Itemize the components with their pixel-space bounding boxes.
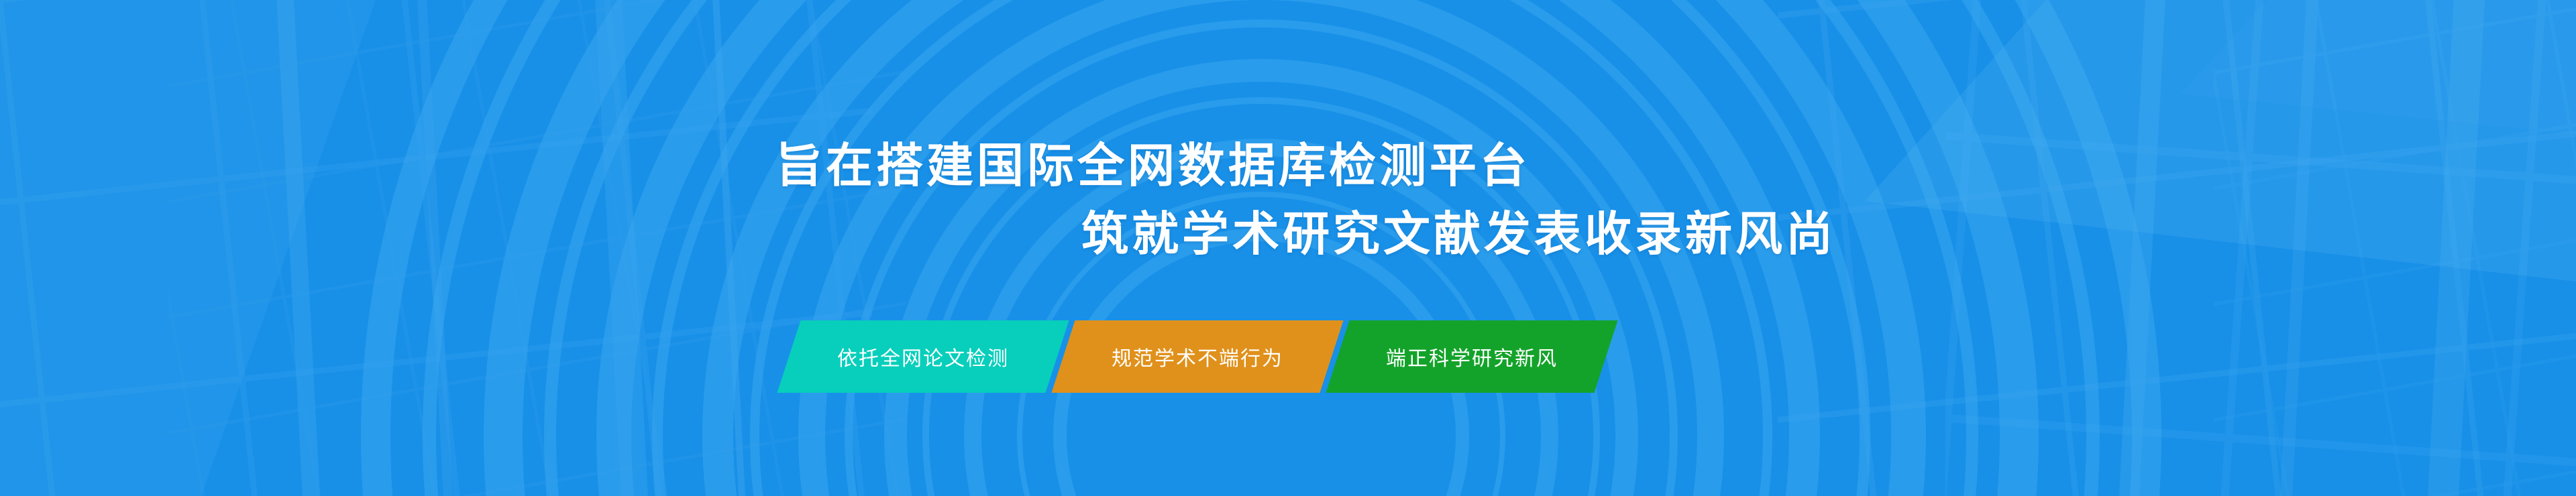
- headline-block: 旨在搭建国际全网数据库检测平台 筑就学术研究文献发表收录新风尚: [0, 131, 2576, 268]
- feature-tag-1[interactable]: 依托全网论文检测: [777, 320, 1069, 393]
- headline-line-1: 旨在搭建国际全网数据库检测平台: [0, 131, 2576, 200]
- feature-tag-2-label: 规范学术不端行为: [1112, 342, 1283, 371]
- headline-line-2: 筑就学术研究文献发表收录新风尚: [0, 200, 2576, 268]
- feature-tag-list: 依托全网论文检测 规范学术不端行为 端正科学研究新风: [771, 320, 1606, 393]
- feature-tag-3-label: 端正科学研究新风: [1386, 342, 1558, 371]
- promo-banner: 旨在搭建国际全网数据库检测平台 筑就学术研究文献发表收录新风尚 依托全网论文检测…: [0, 0, 2576, 496]
- feature-tag-2[interactable]: 规范学术不端行为: [1051, 320, 1343, 393]
- feature-tag-3[interactable]: 端正科学研究新风: [1326, 320, 1617, 393]
- feature-tag-1-label: 依托全网论文检测: [837, 342, 1009, 371]
